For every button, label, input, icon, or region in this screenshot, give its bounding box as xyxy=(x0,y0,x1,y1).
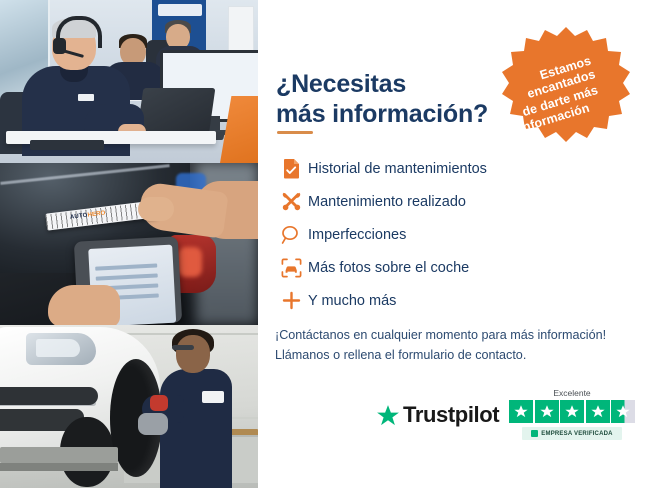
contact-line-1: ¡Contáctanos en cualquier momento para m… xyxy=(275,325,635,345)
tablet-holding-hand xyxy=(48,285,120,325)
plus-icon xyxy=(274,288,308,314)
promo-banner: AUTOHERO xyxy=(0,0,650,488)
feature-item-mas: Y mucho más xyxy=(274,284,604,317)
feature-item-imperfecciones: Imperfecciones xyxy=(274,218,604,251)
feature-label: Imperfecciones xyxy=(308,227,406,243)
contact-text: ¡Contáctanos en cualquier momento para m… xyxy=(275,325,635,366)
mechanic-wheel-photo xyxy=(0,325,258,488)
wall-panel-label xyxy=(158,4,202,16)
mechanic-body xyxy=(160,369,232,488)
laptop-screen xyxy=(137,88,216,136)
feature-label: Más fotos sobre el coche xyxy=(308,260,469,276)
feature-list: Historial de mantenimientos M xyxy=(274,152,604,317)
mechanic-glove xyxy=(138,413,168,435)
mechanic-head xyxy=(176,335,210,373)
car-lift-arm xyxy=(0,447,118,463)
tablet-row xyxy=(96,273,158,280)
car-headlight-inner xyxy=(36,339,80,357)
car-scan-icon xyxy=(274,255,308,281)
inspector-fingers xyxy=(138,197,174,221)
star-half xyxy=(611,400,635,423)
verified-label: EMPRESA VERIFICADA xyxy=(541,431,612,437)
content-panel: ¿Necesitas más información? Estamos enca… xyxy=(258,0,650,488)
headline-line-1: ¿Necesitas xyxy=(276,70,406,98)
title-underline-rule xyxy=(277,131,313,134)
badge-text-block: Estamos encantados de darte más informac… xyxy=(501,25,631,155)
document-check-icon xyxy=(274,156,308,182)
call-center-agents-photo xyxy=(0,0,258,163)
star-filled xyxy=(535,400,559,423)
feature-label: Y mucho más xyxy=(308,293,396,309)
photo-column: AUTOHERO xyxy=(0,0,258,488)
trustpilot-wordmark: Trustpilot xyxy=(403,402,499,428)
trustpilot-logo[interactable]: Trustpilot xyxy=(376,402,499,428)
keyboard xyxy=(30,140,104,150)
car-inspection-ruler-photo: AUTOHERO xyxy=(0,163,258,325)
feature-item-mantenimiento: Mantenimiento realizado xyxy=(274,185,604,218)
mechanic-name-badge xyxy=(202,391,224,403)
star-filled xyxy=(586,400,610,423)
trustpilot-rating-block: Excelente xyxy=(506,388,638,440)
car-lift-base xyxy=(0,463,118,471)
trustpilot-star-rating xyxy=(506,400,638,423)
trustpilot-widget[interactable]: Trustpilot Excelente xyxy=(376,388,638,450)
verified-company-badge: EMPRESA VERIFICADA xyxy=(522,427,622,440)
tablet-row xyxy=(95,263,157,270)
feature-label: Historial de mantenimientos xyxy=(308,161,487,177)
trustpilot-star-icon xyxy=(376,404,400,427)
headline-line-2: más información? xyxy=(276,100,488,128)
promo-starburst-badge: Estamos encantados de darte más informac… xyxy=(501,25,631,155)
magnifier-icon xyxy=(274,222,308,248)
agent-one-name-badge xyxy=(78,94,94,101)
feature-label: Mantenimiento realizado xyxy=(308,194,466,210)
verified-check-icon xyxy=(531,430,538,437)
car-grille-upper xyxy=(0,387,98,405)
feature-item-fotos: Más fotos sobre el coche xyxy=(274,251,604,284)
star-filled xyxy=(509,400,533,423)
inspection-tool xyxy=(150,395,168,411)
contact-line-2: Llámanos o rellena el formulario de cont… xyxy=(275,345,635,365)
trustpilot-rating-label: Excelente xyxy=(506,388,638,398)
tail-light-glow xyxy=(178,247,202,277)
safety-glasses xyxy=(172,345,194,350)
star-filled xyxy=(560,400,584,423)
page-title: ¿Necesitas más información? xyxy=(276,69,516,130)
crossed-tools-icon xyxy=(274,189,308,215)
feature-item-historial: Historial de mantenimientos xyxy=(274,152,604,185)
